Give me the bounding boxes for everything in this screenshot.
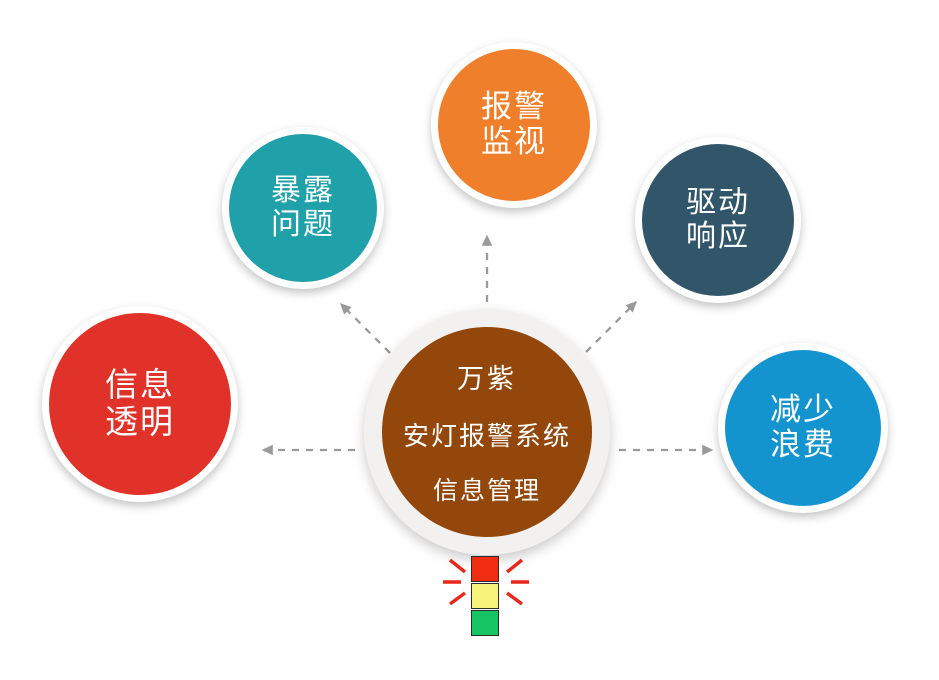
node-drive-response-line-1: 驱动 [686, 186, 750, 220]
node-information-transparency-disc: 信息 透明 [49, 313, 231, 495]
arrow-to-drive-response [586, 302, 636, 352]
node-drive-response-line-2: 响应 [686, 220, 750, 254]
diagram-canvas: 万紫 安灯报警系统 信息管理 报警 监视 暴露 问题 驱动 响应 信息 透明 [0, 0, 939, 680]
andon-green-lamp-icon [471, 610, 499, 636]
center-hub-line-1: 万紫 [457, 357, 517, 396]
node-alarm-monitor-line-1: 报警 [481, 90, 547, 125]
arrow-to-expose-problems [341, 304, 390, 353]
andon-light-tower[interactable] [471, 556, 501, 642]
node-information-transparency[interactable]: 信息 透明 [42, 306, 238, 502]
node-drive-response-disc: 驱动 响应 [642, 144, 794, 296]
node-information-transparency-line-2: 透明 [105, 404, 175, 441]
center-hub[interactable]: 万紫 安灯报警系统 信息管理 [364, 309, 610, 555]
center-hub-disc: 万紫 安灯报警系统 信息管理 [382, 327, 592, 537]
node-alarm-monitor-line-2: 监视 [481, 125, 547, 160]
center-hub-line-2: 安灯报警系统 [403, 416, 571, 453]
node-reduce-waste-line-2: 浪费 [770, 428, 836, 463]
node-drive-response[interactable]: 驱动 响应 [635, 137, 801, 303]
node-expose-problems-disc: 暴露 问题 [229, 134, 377, 282]
node-expose-problems-line-2: 问题 [271, 208, 335, 242]
node-reduce-waste-line-1: 减少 [770, 393, 836, 428]
center-hub-line-3: 信息管理 [433, 471, 541, 507]
node-alarm-monitor[interactable]: 报警 监视 [431, 42, 597, 208]
andon-yellow-lamp-icon [471, 583, 499, 609]
node-expose-problems-line-1: 暴露 [271, 174, 335, 208]
node-expose-problems[interactable]: 暴露 问题 [222, 127, 384, 289]
node-information-transparency-line-1: 信息 [105, 367, 175, 404]
node-reduce-waste[interactable]: 减少 浪费 [718, 343, 888, 513]
node-reduce-waste-disc: 减少 浪费 [725, 350, 881, 506]
node-alarm-monitor-disc: 报警 监视 [438, 49, 590, 201]
andon-red-lamp-icon [471, 556, 499, 582]
